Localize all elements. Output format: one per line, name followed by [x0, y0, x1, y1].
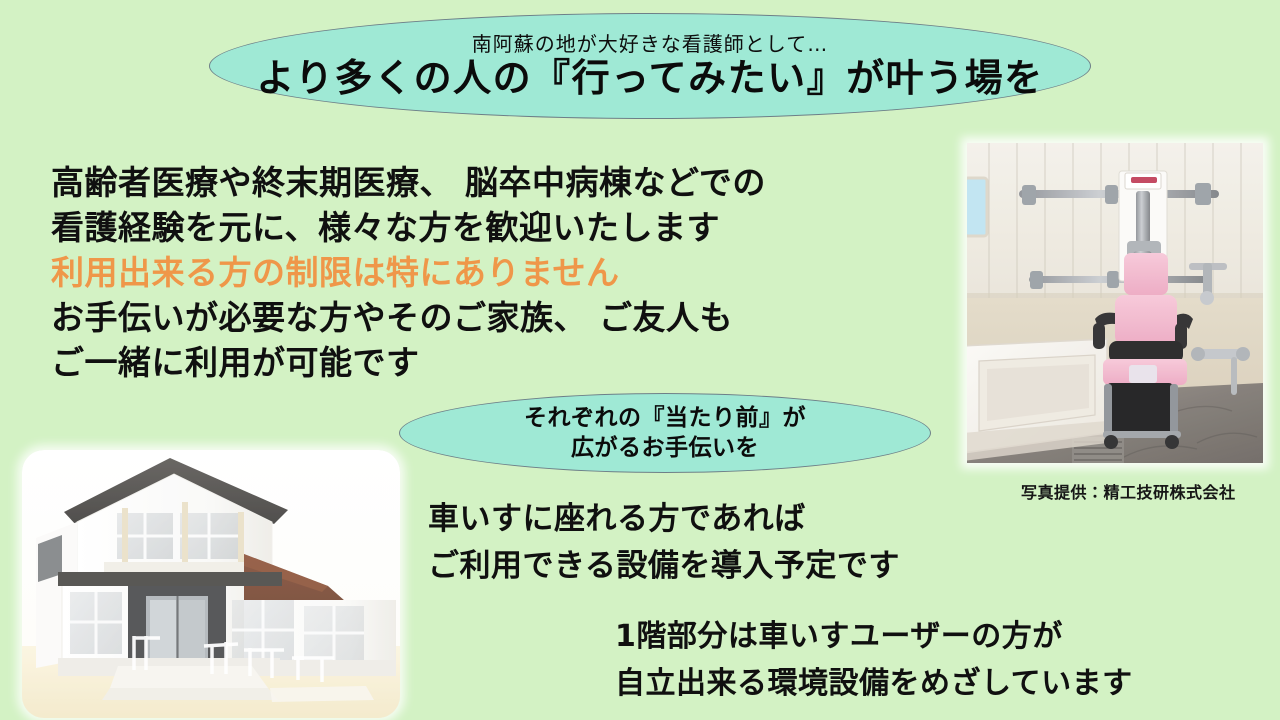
title-subtitle: 南阿蘇の地が大好きな看護師として… [472, 34, 828, 54]
house-exterior-photo [22, 450, 400, 718]
main-copy-line-1: 高齢者医療や終末期医療、 脳卒中病棟などでの [51, 160, 766, 205]
sub-callout-line-2: 広がるお手伝いを [571, 433, 759, 463]
wheelchair-copy-line-2: ご利用できる設備を導入予定です [428, 543, 900, 590]
wheelchair-copy-line-1: 車いすに座れる方であれば [428, 496, 900, 543]
main-copy-line-4: お手伝いが必要な方やそのご家族、 ご友人も [51, 295, 766, 340]
page-title: より多くの人の『行ってみたい』が叶う場を [256, 59, 1043, 99]
bathroom-lift-illustration [967, 143, 1263, 463]
slide-canvas: 南阿蘇の地が大好きな看護師として… より多くの人の『行ってみたい』が叶う場を 高… [0, 0, 1280, 720]
floor-copy-block: 1階部分は車いすユーザーの方が 自立出来る環境設備をめざしています [615, 613, 1133, 707]
main-copy-highlight-line: 利用出来る方の制限は特にありません [51, 250, 766, 295]
bathroom-lift-photo [967, 143, 1263, 463]
main-copy-block: 高齢者医療や終末期医療、 脳卒中病棟などでの 看護経験を元に、様々な方を歓迎いた… [51, 160, 766, 385]
main-copy-line-5: ご一緒に利用が可能です [51, 340, 766, 385]
sub-callout-ellipse: それぞれの『当たり前』が 広がるお手伝いを [399, 393, 931, 473]
floor-copy-line-1: 1階部分は車いすユーザーの方が [615, 613, 1133, 660]
main-copy-line-2: 看護経験を元に、様々な方を歓迎いたします [51, 205, 766, 250]
sub-callout-line-1: それぞれの『当たり前』が [524, 403, 806, 433]
wheelchair-copy-block: 車いすに座れる方であれば ご利用できる設備を導入予定です [428, 496, 900, 590]
photo-credit-caption: 写真提供：精工技研株式会社 [1021, 479, 1236, 503]
house-exterior-illustration [22, 450, 400, 718]
title-callout-ellipse: 南阿蘇の地が大好きな看護師として… より多くの人の『行ってみたい』が叶う場を [209, 13, 1091, 119]
floor-copy-line-2: 自立出来る環境設備をめざしています [615, 660, 1133, 707]
